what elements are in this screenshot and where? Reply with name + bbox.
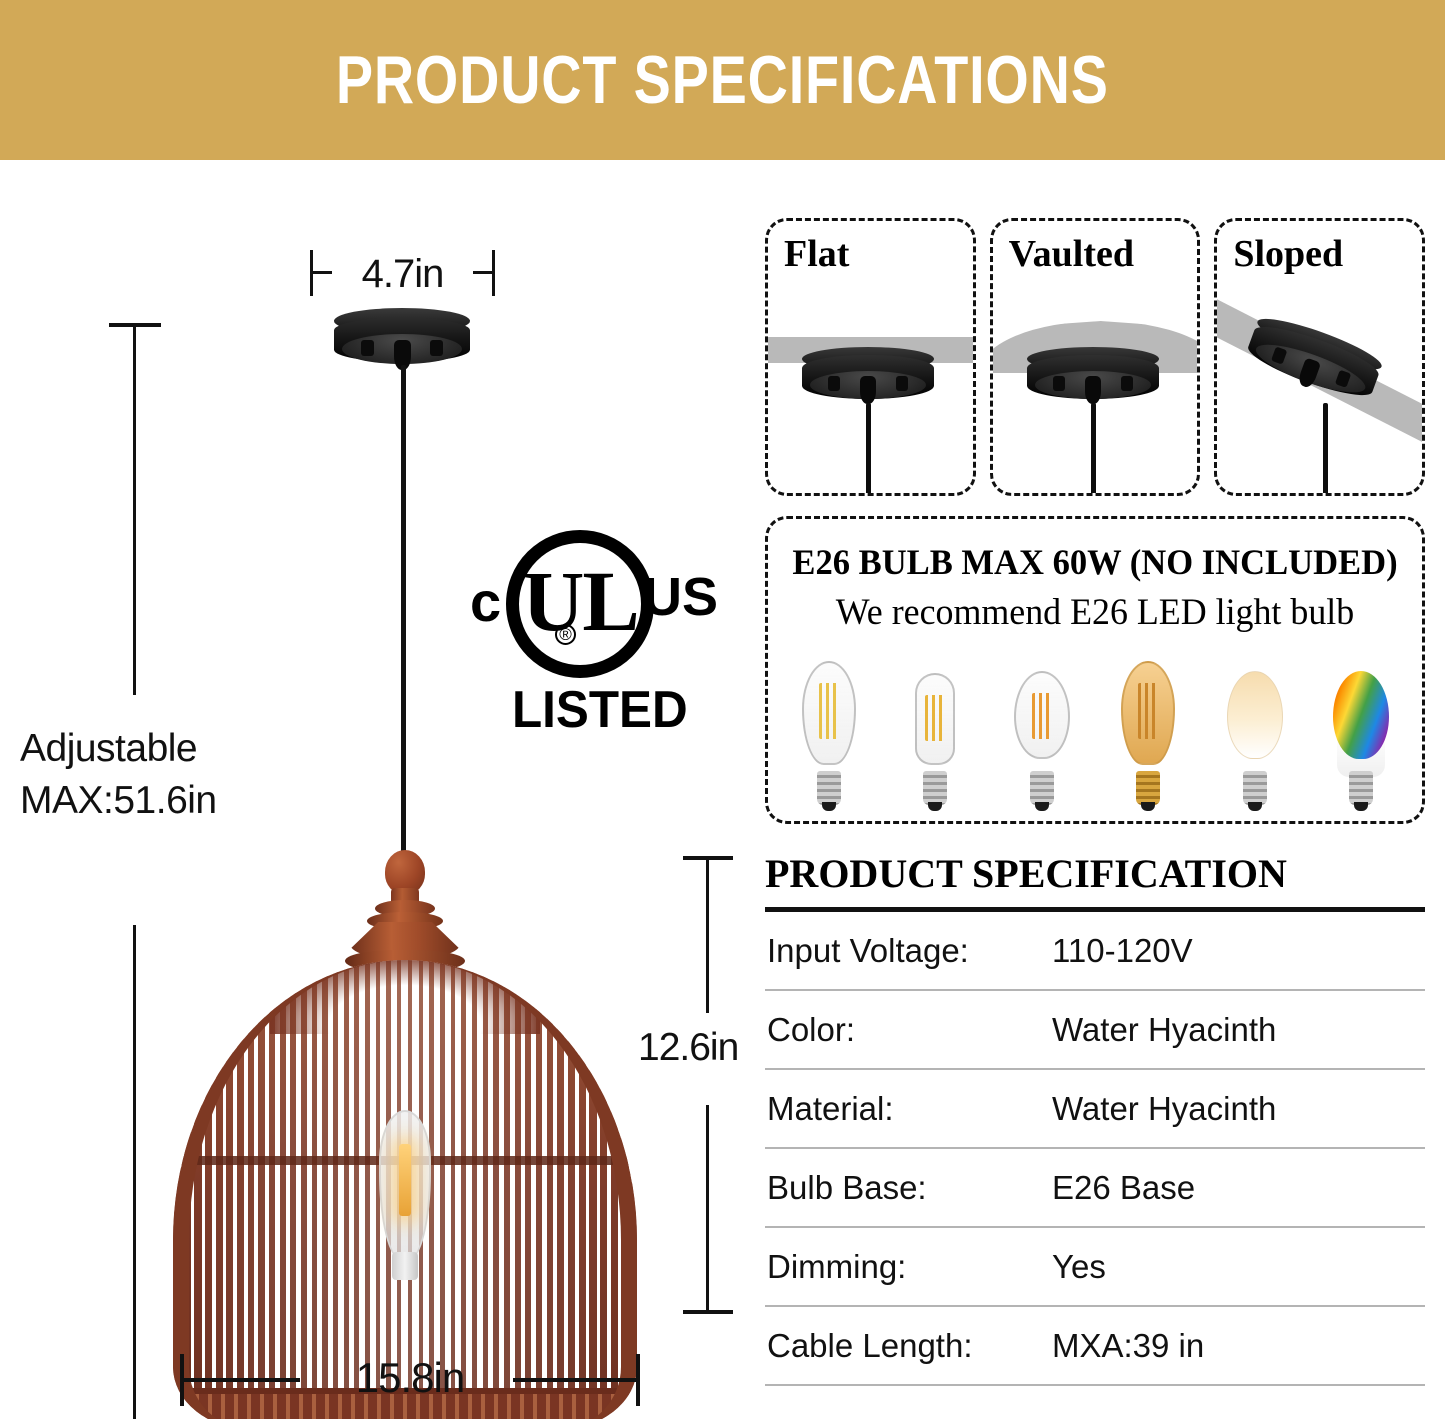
rattan-top-cap	[270, 960, 540, 1034]
ceiling-card-sloped: Sloped	[1214, 218, 1425, 496]
interior-bulb-filament	[399, 1144, 411, 1216]
ceiling-card-vaulted: Vaulted	[990, 218, 1201, 496]
a19-clear-filament-bulb	[1001, 657, 1083, 807]
wood-finial	[341, 850, 469, 970]
ul-listed-mark: c UL ® US LISTED	[468, 530, 718, 730]
info-column: Flat Vaulted	[760, 160, 1445, 1419]
bulb-panel-subheading: We recommend E26 LED light bulb	[778, 591, 1412, 634]
ceiling-type-cards: Flat Vaulted	[765, 218, 1425, 496]
bulb-glass	[1227, 671, 1283, 759]
specification-row: Bulb Base:E26 Base	[765, 1148, 1425, 1227]
bulb-recommendation-panel: E26 BULB MAX 60W (NO INCLUDED) We recomm…	[765, 516, 1425, 824]
interior-bulb	[373, 1110, 437, 1310]
product-specification-page: PRODUCT SPECIFICATIONS 4.7in c U	[0, 0, 1445, 1419]
rattan-rib	[472, 969, 477, 1419]
ul-mark-row: c UL ® US	[468, 530, 718, 678]
hanging-cord	[401, 365, 406, 883]
product-diagram: 4.7in c UL ® US LISTED	[0, 160, 760, 1419]
bulb-filament	[925, 695, 945, 741]
ul-listed-text: LISTED	[512, 680, 688, 740]
specification-row: Color:Water Hyacinth	[765, 990, 1425, 1069]
height-dimension-cap-bottom	[683, 1310, 733, 1314]
registered-trademark-icon: ®	[555, 624, 576, 645]
mini-canopy-screw-left	[1053, 376, 1065, 391]
specification-value: Water Hyacinth	[1050, 1069, 1425, 1148]
ceiling-card-flat: Flat	[765, 218, 976, 496]
rattan-rib	[322, 972, 327, 1419]
ceiling-card-label: Vaulted	[1009, 235, 1134, 273]
specification-row: Cable Length:MXA:39 in	[765, 1306, 1425, 1385]
a19-rgb-smart-bulb	[1320, 657, 1402, 807]
rattan-rib	[312, 975, 318, 1419]
canopy-width-label: 4.7in	[310, 252, 495, 297]
mini-cord-flat	[866, 403, 871, 495]
mini-canopy-screw-right	[896, 376, 908, 391]
rattan-rib	[493, 975, 499, 1419]
ul-circle-icon: UL ®	[506, 530, 654, 678]
shade-width-label: 15.8in	[180, 1354, 640, 1402]
rattan-rib	[504, 979, 510, 1419]
specification-key: Color:	[765, 990, 1050, 1069]
bulb-screw-base	[1243, 771, 1267, 805]
adjustable-label-line1: Adjustable	[20, 723, 280, 775]
bulb-screw-base	[1136, 771, 1160, 805]
bulb-filament	[1032, 693, 1052, 739]
bulb-screw-base	[923, 771, 947, 805]
rattan-rib	[483, 972, 488, 1419]
page-title: PRODUCT SPECIFICATIONS	[336, 41, 1109, 119]
specification-title: PRODUCT SPECIFICATION	[765, 850, 1425, 907]
specification-section: PRODUCT SPECIFICATION Input Voltage:110-…	[765, 850, 1425, 1386]
canopy-sloped-icon	[1241, 310, 1386, 413]
st64-amber-vintage-bulb	[1107, 657, 1189, 807]
canopy-flat-icon	[802, 347, 934, 409]
mini-canopy-screw-left	[828, 376, 840, 391]
dimension-line-bottom	[133, 925, 136, 1419]
height-dimension-line-bottom	[706, 1105, 709, 1313]
specification-key: Material:	[765, 1069, 1050, 1148]
bulb-icon-row	[788, 647, 1402, 807]
specification-key: Input Voltage:	[765, 910, 1050, 991]
interior-bulb-neck	[392, 1252, 418, 1280]
shade-height-dimension: 12.6in	[662, 850, 762, 1325]
bulb-screw-base	[817, 771, 841, 805]
rattan-rib	[301, 979, 307, 1419]
specification-row: Dimming:Yes	[765, 1227, 1425, 1306]
specification-value: MXA:39 in	[1050, 1306, 1425, 1385]
a19-frosted-warm-bulb	[1214, 657, 1296, 807]
ul-c-letter: c	[470, 574, 501, 630]
mini-canopy-grommet	[1085, 376, 1101, 404]
ceiling-card-label: Sloped	[1233, 235, 1343, 273]
bulb-screw-base	[1349, 771, 1373, 805]
bulb-glass	[1333, 671, 1389, 759]
rattan-rib	[333, 969, 338, 1419]
adjustable-label-line2: MAX:51.6in	[20, 775, 280, 827]
ul-letters: UL	[522, 558, 637, 644]
rattan-shade	[173, 960, 637, 1419]
page-header-banner: PRODUCT SPECIFICATIONS	[0, 0, 1445, 160]
specification-value: Yes	[1050, 1227, 1425, 1306]
bulb-filament	[1138, 683, 1158, 739]
specification-key: Dimming:	[765, 1227, 1050, 1306]
mini-canopy-screw-right	[1121, 376, 1133, 391]
specification-table: Input Voltage:110-120VColor:Water Hyacin…	[765, 907, 1425, 1386]
adjustable-length-label: Adjustable MAX:51.6in	[20, 723, 280, 828]
height-dimension-line-top	[706, 858, 709, 1013]
shade-width-dimension: 15.8in	[180, 1354, 640, 1414]
canopy-screw-left	[361, 340, 374, 356]
specification-value: 110-120V	[1050, 910, 1425, 991]
ceiling-card-label: Flat	[784, 235, 849, 273]
specification-row: Material:Water Hyacinth	[765, 1069, 1425, 1148]
bulb-panel-heading: E26 BULB MAX 60W (NO INCLUDED)	[781, 541, 1409, 583]
mini-cord-vaulted	[1091, 403, 1096, 495]
t45-tubular-filament-bulb	[894, 657, 976, 807]
specification-row: Input Voltage:110-120V	[765, 910, 1425, 991]
canopy-vaulted-icon	[1027, 347, 1159, 409]
ceiling-canopy	[334, 308, 470, 370]
rattan-rib	[461, 966, 466, 1419]
bulb-filament	[819, 683, 839, 739]
rattan-rib	[344, 966, 349, 1419]
specification-value: E26 Base	[1050, 1148, 1425, 1227]
specification-key: Bulb Base:	[765, 1148, 1050, 1227]
ul-us-letters: US	[643, 570, 718, 624]
dimension-line-top	[133, 325, 136, 695]
canopy-screw-right	[430, 340, 443, 356]
bulb-screw-base	[1030, 771, 1054, 805]
canopy-width-dimension: 4.7in	[310, 250, 495, 296]
st64-clear-filament-bulb	[788, 657, 870, 807]
mini-canopy-grommet	[860, 376, 876, 404]
specification-key: Cable Length:	[765, 1306, 1050, 1385]
mini-cord-sloped	[1323, 403, 1328, 495]
specification-value: Water Hyacinth	[1050, 990, 1425, 1069]
pendant-lamp-image	[165, 850, 645, 1419]
